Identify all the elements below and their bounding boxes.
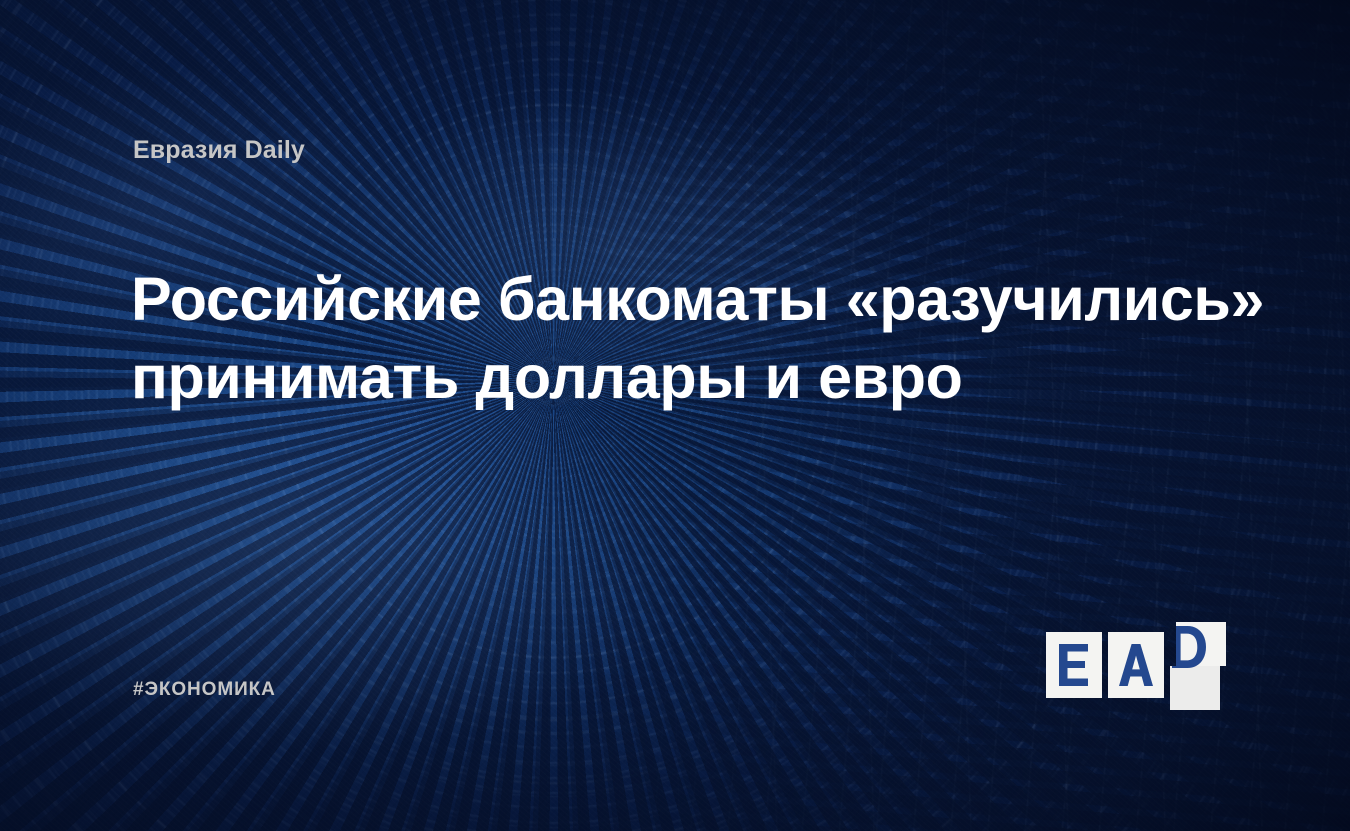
logo-tile-d-upper bbox=[1176, 622, 1226, 666]
letter-e-icon bbox=[1059, 644, 1089, 686]
category-tag[interactable]: #ЭКОНОМИКА bbox=[133, 679, 276, 701]
logo-tile-e bbox=[1046, 632, 1102, 698]
headline-line-1: Российские банкоматы «разучились» bbox=[131, 260, 1201, 338]
news-share-card: Евразия Daily Российские банкоматы «разу… bbox=[0, 0, 1350, 831]
page-title: Российские банкоматы «разучились» приним… bbox=[131, 260, 1201, 416]
headline-line-2: принимать доллары и евро bbox=[131, 338, 1201, 416]
logo-tile-d bbox=[1170, 622, 1226, 710]
card-content: Евразия Daily Российские банкоматы «разу… bbox=[0, 0, 1350, 831]
letter-a-icon bbox=[1119, 644, 1153, 686]
logo-tile-a bbox=[1108, 632, 1164, 698]
ead-logo[interactable] bbox=[1046, 618, 1226, 710]
logo-tile-d-lower bbox=[1170, 666, 1220, 710]
site-name: Евразия Daily bbox=[133, 136, 305, 165]
